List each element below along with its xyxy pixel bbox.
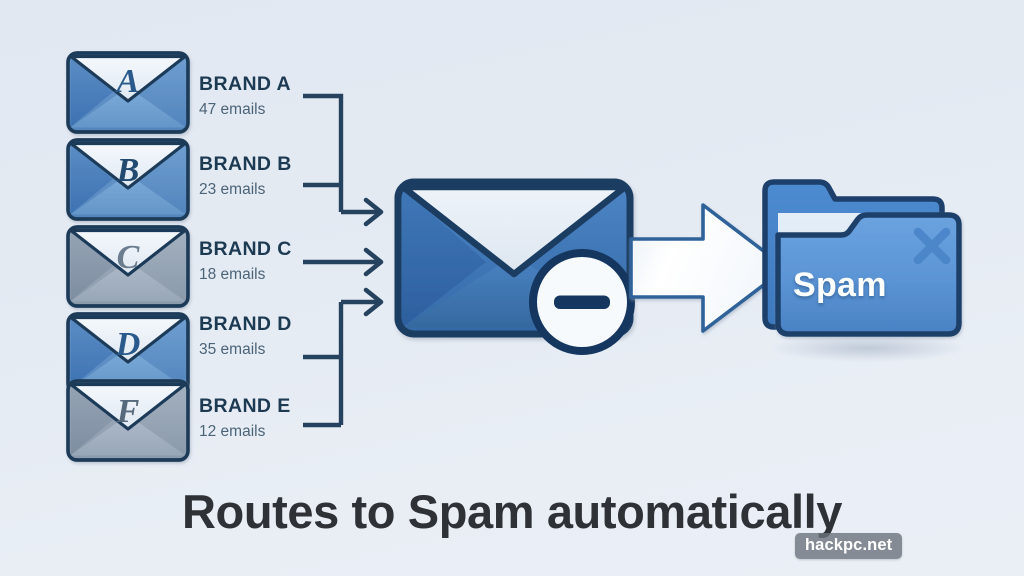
brand-count-c: 18 emails <box>199 267 349 283</box>
brand-glyph-c: C <box>117 239 140 276</box>
watermark-badge: hackpc.net <box>795 533 902 559</box>
brand-glyph-d: D <box>115 326 141 363</box>
brand-name-e: BRAND E <box>199 397 349 417</box>
brand-count-a: 47 emails <box>199 102 349 118</box>
connector-arrowheads <box>366 200 381 314</box>
folder-shadow <box>770 334 966 362</box>
page-caption: Routes to Spam automatically <box>0 487 1024 538</box>
brand-row-d: BRAND D 35 emails <box>199 315 349 357</box>
brand-count-d: 35 emails <box>199 342 349 358</box>
brand-row-b: BRAND B 23 emails <box>199 155 349 197</box>
brand-name-d: BRAND D <box>199 315 349 335</box>
brand-envelope-icon-e[interactable]: F <box>68 381 188 460</box>
brand-name-a: BRAND A <box>199 75 349 95</box>
brand-envelope-icon-c[interactable]: C <box>68 227 188 306</box>
minus-circle-icon <box>533 253 631 351</box>
brand-row-a: BRAND A 47 emails <box>199 75 349 117</box>
brand-count-e: 12 emails <box>199 424 349 440</box>
brand-name-c: BRAND C <box>199 240 349 260</box>
brand-glyph-a: A <box>115 63 140 100</box>
brand-count-b: 23 emails <box>199 182 349 198</box>
brand-name-b: BRAND B <box>199 155 349 175</box>
brand-row-c: BRAND C 18 emails <box>199 240 349 282</box>
spam-folder-label: Spam <box>793 268 887 302</box>
infographic-canvas: A B C D <box>0 0 1024 576</box>
brand-envelope-icon-b[interactable]: B <box>68 140 188 219</box>
brand-glyph-e: F <box>116 393 140 430</box>
brand-row-e: BRAND E 12 emails <box>199 397 349 439</box>
brand-glyph-b: B <box>116 152 140 189</box>
brand-envelope-icon-a[interactable]: A <box>68 53 188 132</box>
central-envelope[interactable] <box>398 182 631 351</box>
